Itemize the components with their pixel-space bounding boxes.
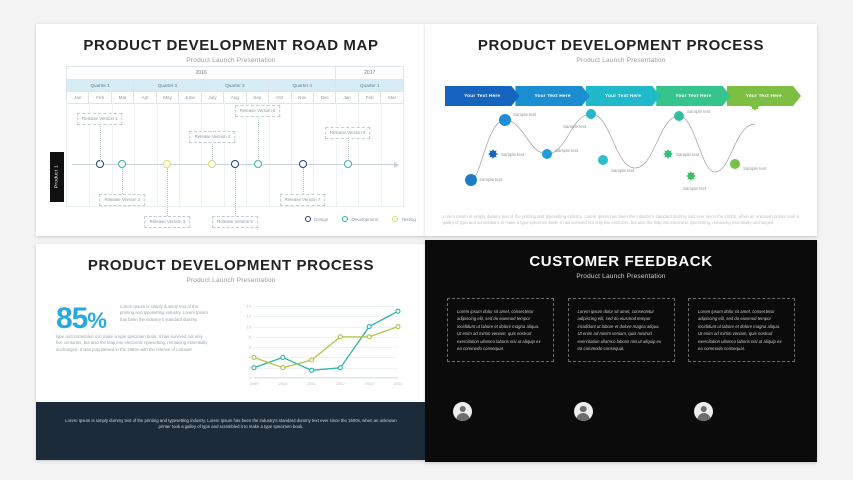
roadmap-milestone-stem bbox=[167, 168, 168, 216]
roadmap-release-label[interactable]: Release Version 2 bbox=[100, 194, 146, 206]
stats-paragraph-wide: type and scrambled it to make a type spe… bbox=[56, 334, 210, 353]
chart-data-point bbox=[367, 335, 371, 339]
chart-data-point bbox=[252, 355, 256, 359]
roadmap-milestone-stem bbox=[303, 168, 304, 194]
roadmap-milestone-node[interactable] bbox=[96, 160, 104, 168]
page-title: PRODUCT DEVELOPMENT PROCESS bbox=[425, 38, 817, 54]
roadmap-quarter-cell: Quarter 3 bbox=[201, 80, 268, 92]
presentation-board: PRODUCT DEVELOPMENT ROAD MAP Product Lau… bbox=[0, 0, 853, 480]
chart-data-point bbox=[367, 325, 371, 329]
roadmap-gridline bbox=[134, 102, 135, 206]
chart-data-point bbox=[310, 368, 314, 372]
process-star-marker bbox=[488, 149, 498, 159]
process-dot-marker bbox=[586, 109, 596, 119]
process-star-marker bbox=[663, 149, 673, 159]
avatar-head-icon bbox=[580, 406, 587, 413]
process-annotation-label: Sample text bbox=[555, 148, 578, 153]
chart-x-tick: 2009 bbox=[250, 381, 259, 386]
product-tab-label: Product 1 bbox=[55, 161, 60, 193]
process-star-marker bbox=[686, 171, 696, 181]
chart-line-series-1 bbox=[254, 311, 398, 370]
roadmap-gridline bbox=[269, 102, 270, 206]
legend-marker-icon bbox=[305, 216, 311, 222]
chart-plot-area: 02468101214200920102011201220132014 bbox=[254, 306, 398, 378]
slide-product-development-stats[interactable]: PRODUCT DEVELOPMENT PROCESS Product Laun… bbox=[36, 244, 426, 460]
roadmap-release-label[interactable]: Release Version 7 bbox=[280, 194, 326, 206]
process-annotation-label: Sample text bbox=[743, 166, 766, 171]
chart-series-svg bbox=[254, 306, 398, 378]
roadmap-milestone-stem bbox=[122, 168, 123, 194]
avatar-body-icon bbox=[577, 413, 590, 421]
chart-y-tick: 14 bbox=[247, 304, 251, 309]
stats-footer: Lorem Ipsum is simply dummy text of the … bbox=[36, 402, 426, 460]
roadmap-milestone-node[interactable] bbox=[344, 160, 352, 168]
process-annotation-label: Sample text bbox=[563, 124, 586, 129]
roadmap-gridline bbox=[313, 102, 314, 206]
roadmap-timeline[interactable]: Release Version 1Release Version 2Releas… bbox=[66, 102, 404, 207]
chart-data-point bbox=[338, 335, 342, 339]
chart-data-point bbox=[396, 309, 400, 313]
page-subtitle: Product Launch Presentation bbox=[425, 273, 817, 280]
roadmap-quarter-cell: Quarter 2 bbox=[134, 80, 201, 92]
roadmap-release-label[interactable]: Release Version 4 bbox=[190, 131, 236, 143]
page-title: CUSTOMER FEEDBACK bbox=[425, 254, 817, 270]
process-annotation-label: Sample text bbox=[513, 112, 536, 117]
process-annotation-label: Sample text bbox=[687, 109, 710, 114]
chart-x-tick: 2012 bbox=[336, 381, 345, 386]
roadmap-quarter-cell: Quarter 1 bbox=[67, 80, 134, 92]
avatar bbox=[574, 402, 593, 421]
process-annotation-label: Sample text bbox=[611, 168, 634, 173]
roadmap-milestone-node[interactable] bbox=[118, 160, 126, 168]
roadmap-gridline bbox=[201, 102, 202, 206]
legend-item-label: Testing bbox=[401, 217, 416, 222]
chart-data-point bbox=[396, 325, 400, 329]
roadmap-quarter-row: Quarter 1Quarter 2Quarter 3Quarter 4Quar… bbox=[67, 80, 404, 92]
process-dot-marker bbox=[730, 159, 740, 169]
legend-item: Testing bbox=[392, 216, 416, 222]
avatar-body-icon bbox=[456, 413, 469, 421]
roadmap-year-cell: 2016 bbox=[67, 67, 336, 80]
process-annotation-label: Sample text bbox=[676, 152, 699, 157]
roadmap-gridline bbox=[246, 102, 247, 206]
roadmap-legend: DesignDevelopmentTesting bbox=[36, 216, 416, 222]
process-dot-marker bbox=[674, 111, 684, 121]
chart-x-tick: 2013 bbox=[365, 381, 374, 386]
roadmap-milestone-stem bbox=[235, 168, 236, 216]
avatar-slot bbox=[688, 402, 795, 421]
chart-data-point bbox=[281, 366, 285, 370]
legend-item-label: Design bbox=[314, 217, 328, 222]
roadmap-year-row: 20162017 bbox=[67, 67, 404, 80]
percent-highlight: 85% bbox=[56, 304, 106, 336]
page-title: PRODUCT DEVELOPMENT PROCESS bbox=[36, 258, 426, 274]
page-subtitle: Product Launch Presentation bbox=[425, 57, 817, 64]
chart-y-tick: 0 bbox=[249, 376, 251, 381]
roadmap-gridline bbox=[291, 102, 292, 206]
process-description: Lorem Ipsum is simply dummy text of the … bbox=[443, 214, 799, 226]
roadmap-gridline bbox=[224, 102, 225, 206]
testimonial-card-list: Lorem ipsum dolor sit amet, consectetur … bbox=[447, 298, 795, 362]
roadmap-milestone-stem bbox=[100, 120, 101, 161]
roadmap-milestone-node[interactable] bbox=[231, 160, 239, 168]
process-annotation-label: Sample text bbox=[479, 177, 502, 182]
legend-marker-icon bbox=[342, 216, 348, 222]
roadmap-gridline bbox=[336, 102, 337, 206]
roadmap-quarter-cell: Quarter 1 bbox=[336, 80, 404, 92]
process-step-2[interactable]: Your Text Here bbox=[515, 86, 589, 106]
roadmap-milestone-node[interactable] bbox=[254, 160, 262, 168]
trend-line-chart: 02468101214200920102011201220132014 bbox=[232, 302, 402, 392]
chart-data-point bbox=[338, 366, 342, 370]
testimonial-card[interactable]: Lorem ipsum dolor sit amet, consectetur … bbox=[688, 298, 795, 362]
slide-customer-feedback[interactable]: CUSTOMER FEEDBACK Product Launch Present… bbox=[425, 240, 817, 462]
slide-product-development-process[interactable]: PRODUCT DEVELOPMENT PROCESS Product Laun… bbox=[425, 24, 817, 236]
product-tab: Product 1 bbox=[50, 152, 64, 202]
avatar-slot bbox=[447, 402, 554, 421]
avatar-head-icon bbox=[459, 406, 466, 413]
percent-value: 85 bbox=[56, 302, 87, 335]
stats-footer-text: Lorem Ipsum is simply dummy text of the … bbox=[62, 418, 400, 431]
roadmap-gridline bbox=[179, 102, 180, 206]
page-title: PRODUCT DEVELOPMENT ROAD MAP bbox=[36, 38, 426, 54]
stats-paragraph-top: Lorem Ipsum is simply dummy text of the … bbox=[120, 304, 210, 323]
roadmap-gridline bbox=[358, 102, 359, 206]
legend-item-label: Development bbox=[351, 217, 378, 222]
page-subtitle: Product Launch Presentation bbox=[36, 57, 426, 64]
chart-gridline bbox=[254, 378, 398, 379]
roadmap-milestone-node[interactable] bbox=[208, 160, 216, 168]
avatar bbox=[453, 402, 472, 421]
roadmap-milestone-node[interactable] bbox=[299, 160, 307, 168]
process-step-1[interactable]: Your Text Here bbox=[445, 86, 519, 106]
process-step-5[interactable]: Your Text Here bbox=[727, 86, 801, 106]
legend-item: Design bbox=[305, 216, 328, 222]
testimonial-card[interactable]: Lorem ipsum dolor sit amet, consectetur … bbox=[568, 298, 675, 362]
chart-y-tick: 8 bbox=[249, 334, 251, 339]
legend-item: Development bbox=[342, 216, 378, 222]
chart-y-tick: 4 bbox=[249, 355, 251, 360]
roadmap-year-cell: 2017 bbox=[336, 67, 404, 80]
roadmap-gridline bbox=[157, 102, 158, 206]
chart-y-tick: 12 bbox=[247, 314, 251, 319]
percent-symbol: % bbox=[87, 308, 106, 333]
legend-marker-icon bbox=[392, 216, 398, 222]
process-dot-marker bbox=[598, 155, 608, 165]
process-dot-marker bbox=[499, 114, 511, 126]
chart-x-tick: 2014 bbox=[394, 381, 403, 386]
process-dot-marker bbox=[542, 149, 552, 159]
roadmap-quarter-cell: Quarter 4 bbox=[269, 80, 336, 92]
process-step-chain[interactable]: Your Text HereYour Text HereYour Text He… bbox=[445, 86, 797, 106]
chart-x-tick: 2011 bbox=[307, 381, 316, 386]
chart-data-point bbox=[310, 358, 314, 362]
slide-product-development-road-map[interactable]: PRODUCT DEVELOPMENT ROAD MAP Product Lau… bbox=[36, 24, 426, 236]
process-step-3[interactable]: Your Text Here bbox=[586, 86, 660, 106]
avatar-head-icon bbox=[700, 406, 707, 413]
chart-line-series-2 bbox=[254, 327, 398, 368]
roadmap-gridline bbox=[381, 102, 382, 206]
chart-data-point bbox=[281, 355, 285, 359]
chart-data-point bbox=[252, 366, 256, 370]
testimonial-card[interactable]: Lorem ipsum dolor sit amet, consectetur … bbox=[447, 298, 554, 362]
avatar bbox=[694, 402, 713, 421]
roadmap-release-label[interactable]: Release Version 8 bbox=[325, 127, 371, 139]
process-annotation-label: Sample text bbox=[683, 186, 706, 191]
chart-y-tick: 6 bbox=[249, 345, 251, 350]
process-step-4[interactable]: Your Text Here bbox=[656, 86, 730, 106]
avatar-row bbox=[447, 402, 795, 421]
avatar-slot bbox=[568, 402, 675, 421]
chart-x-tick: 2010 bbox=[278, 381, 287, 386]
chart-y-tick: 2 bbox=[249, 365, 251, 370]
roadmap-release-label[interactable]: Release Version 6 bbox=[235, 105, 281, 117]
roadmap-milestone-stem bbox=[258, 112, 259, 161]
roadmap-release-label[interactable]: Release Version 1 bbox=[77, 113, 123, 125]
chart-y-tick: 10 bbox=[247, 324, 251, 329]
process-annotation-label: Sample text bbox=[501, 152, 524, 157]
roadmap-milestone-node[interactable] bbox=[163, 160, 171, 168]
process-dot-marker bbox=[465, 174, 477, 186]
page-subtitle: Product Launch Presentation bbox=[36, 277, 426, 284]
avatar-body-icon bbox=[697, 413, 710, 421]
